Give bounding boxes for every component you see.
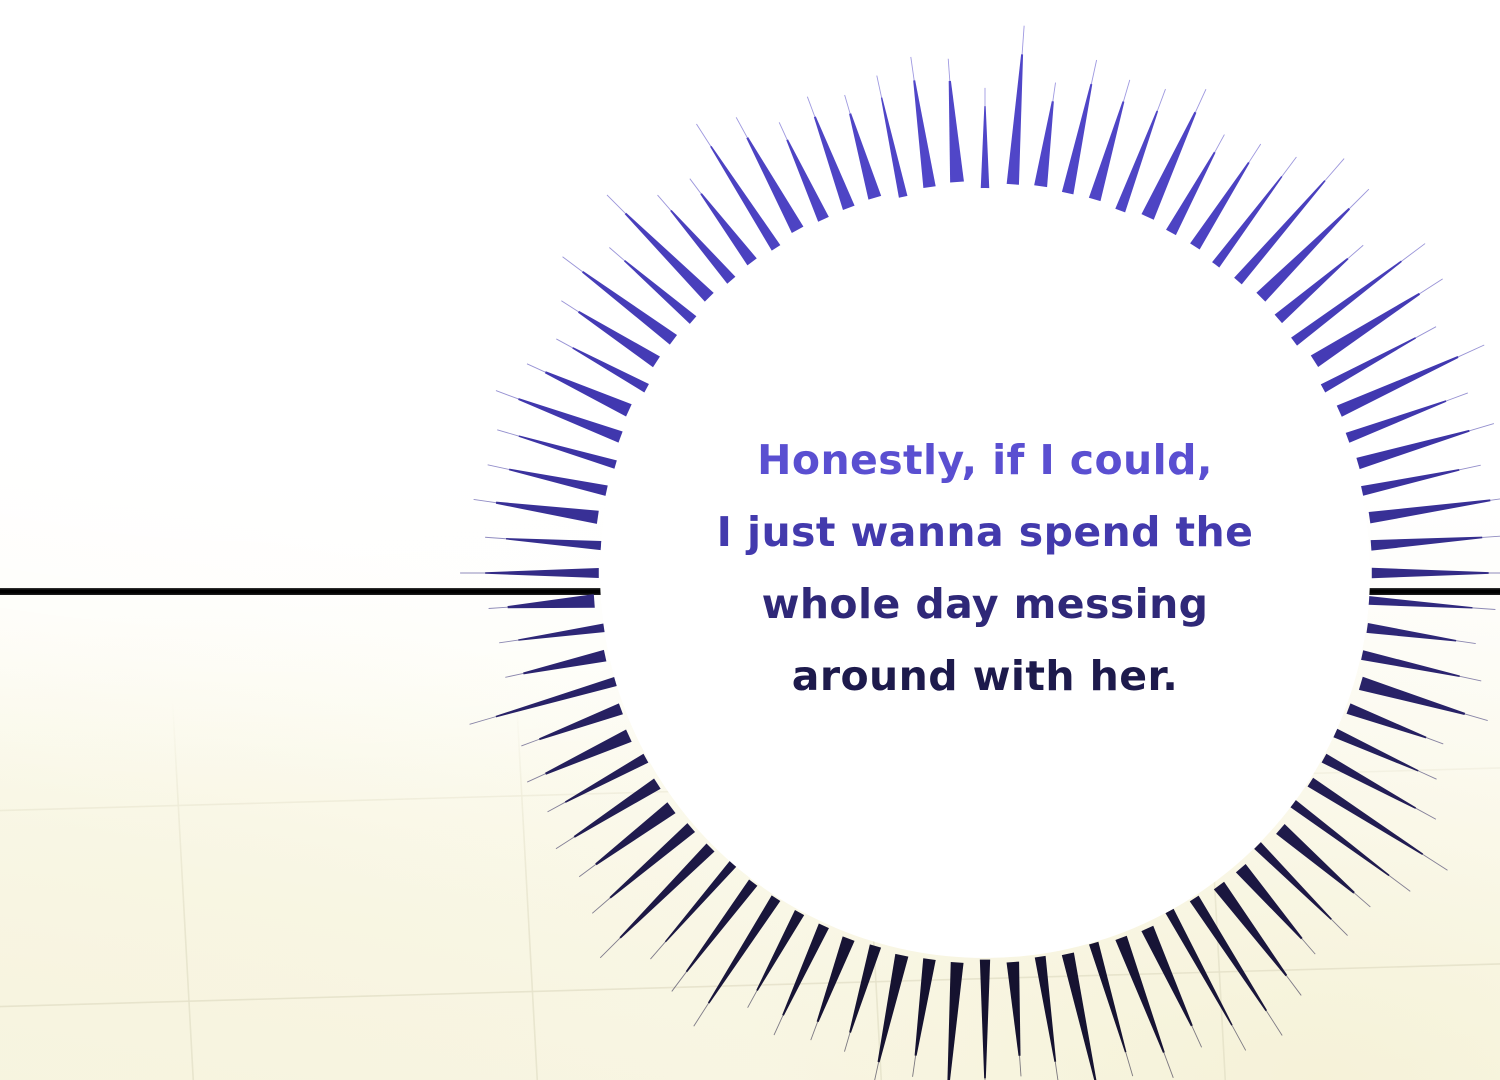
quote-block: Honestly, if I could, I just wanna spend… xyxy=(675,424,1295,712)
quote-line-3: whole day messing xyxy=(675,568,1295,640)
comic-panel: Honestly, if I could, I just wanna spend… xyxy=(0,0,1500,1080)
quote-line-2: I just wanna spend the xyxy=(675,496,1295,568)
quote-line-4: around with her. xyxy=(675,640,1295,712)
quote-line-1: Honestly, if I could, xyxy=(675,424,1295,496)
